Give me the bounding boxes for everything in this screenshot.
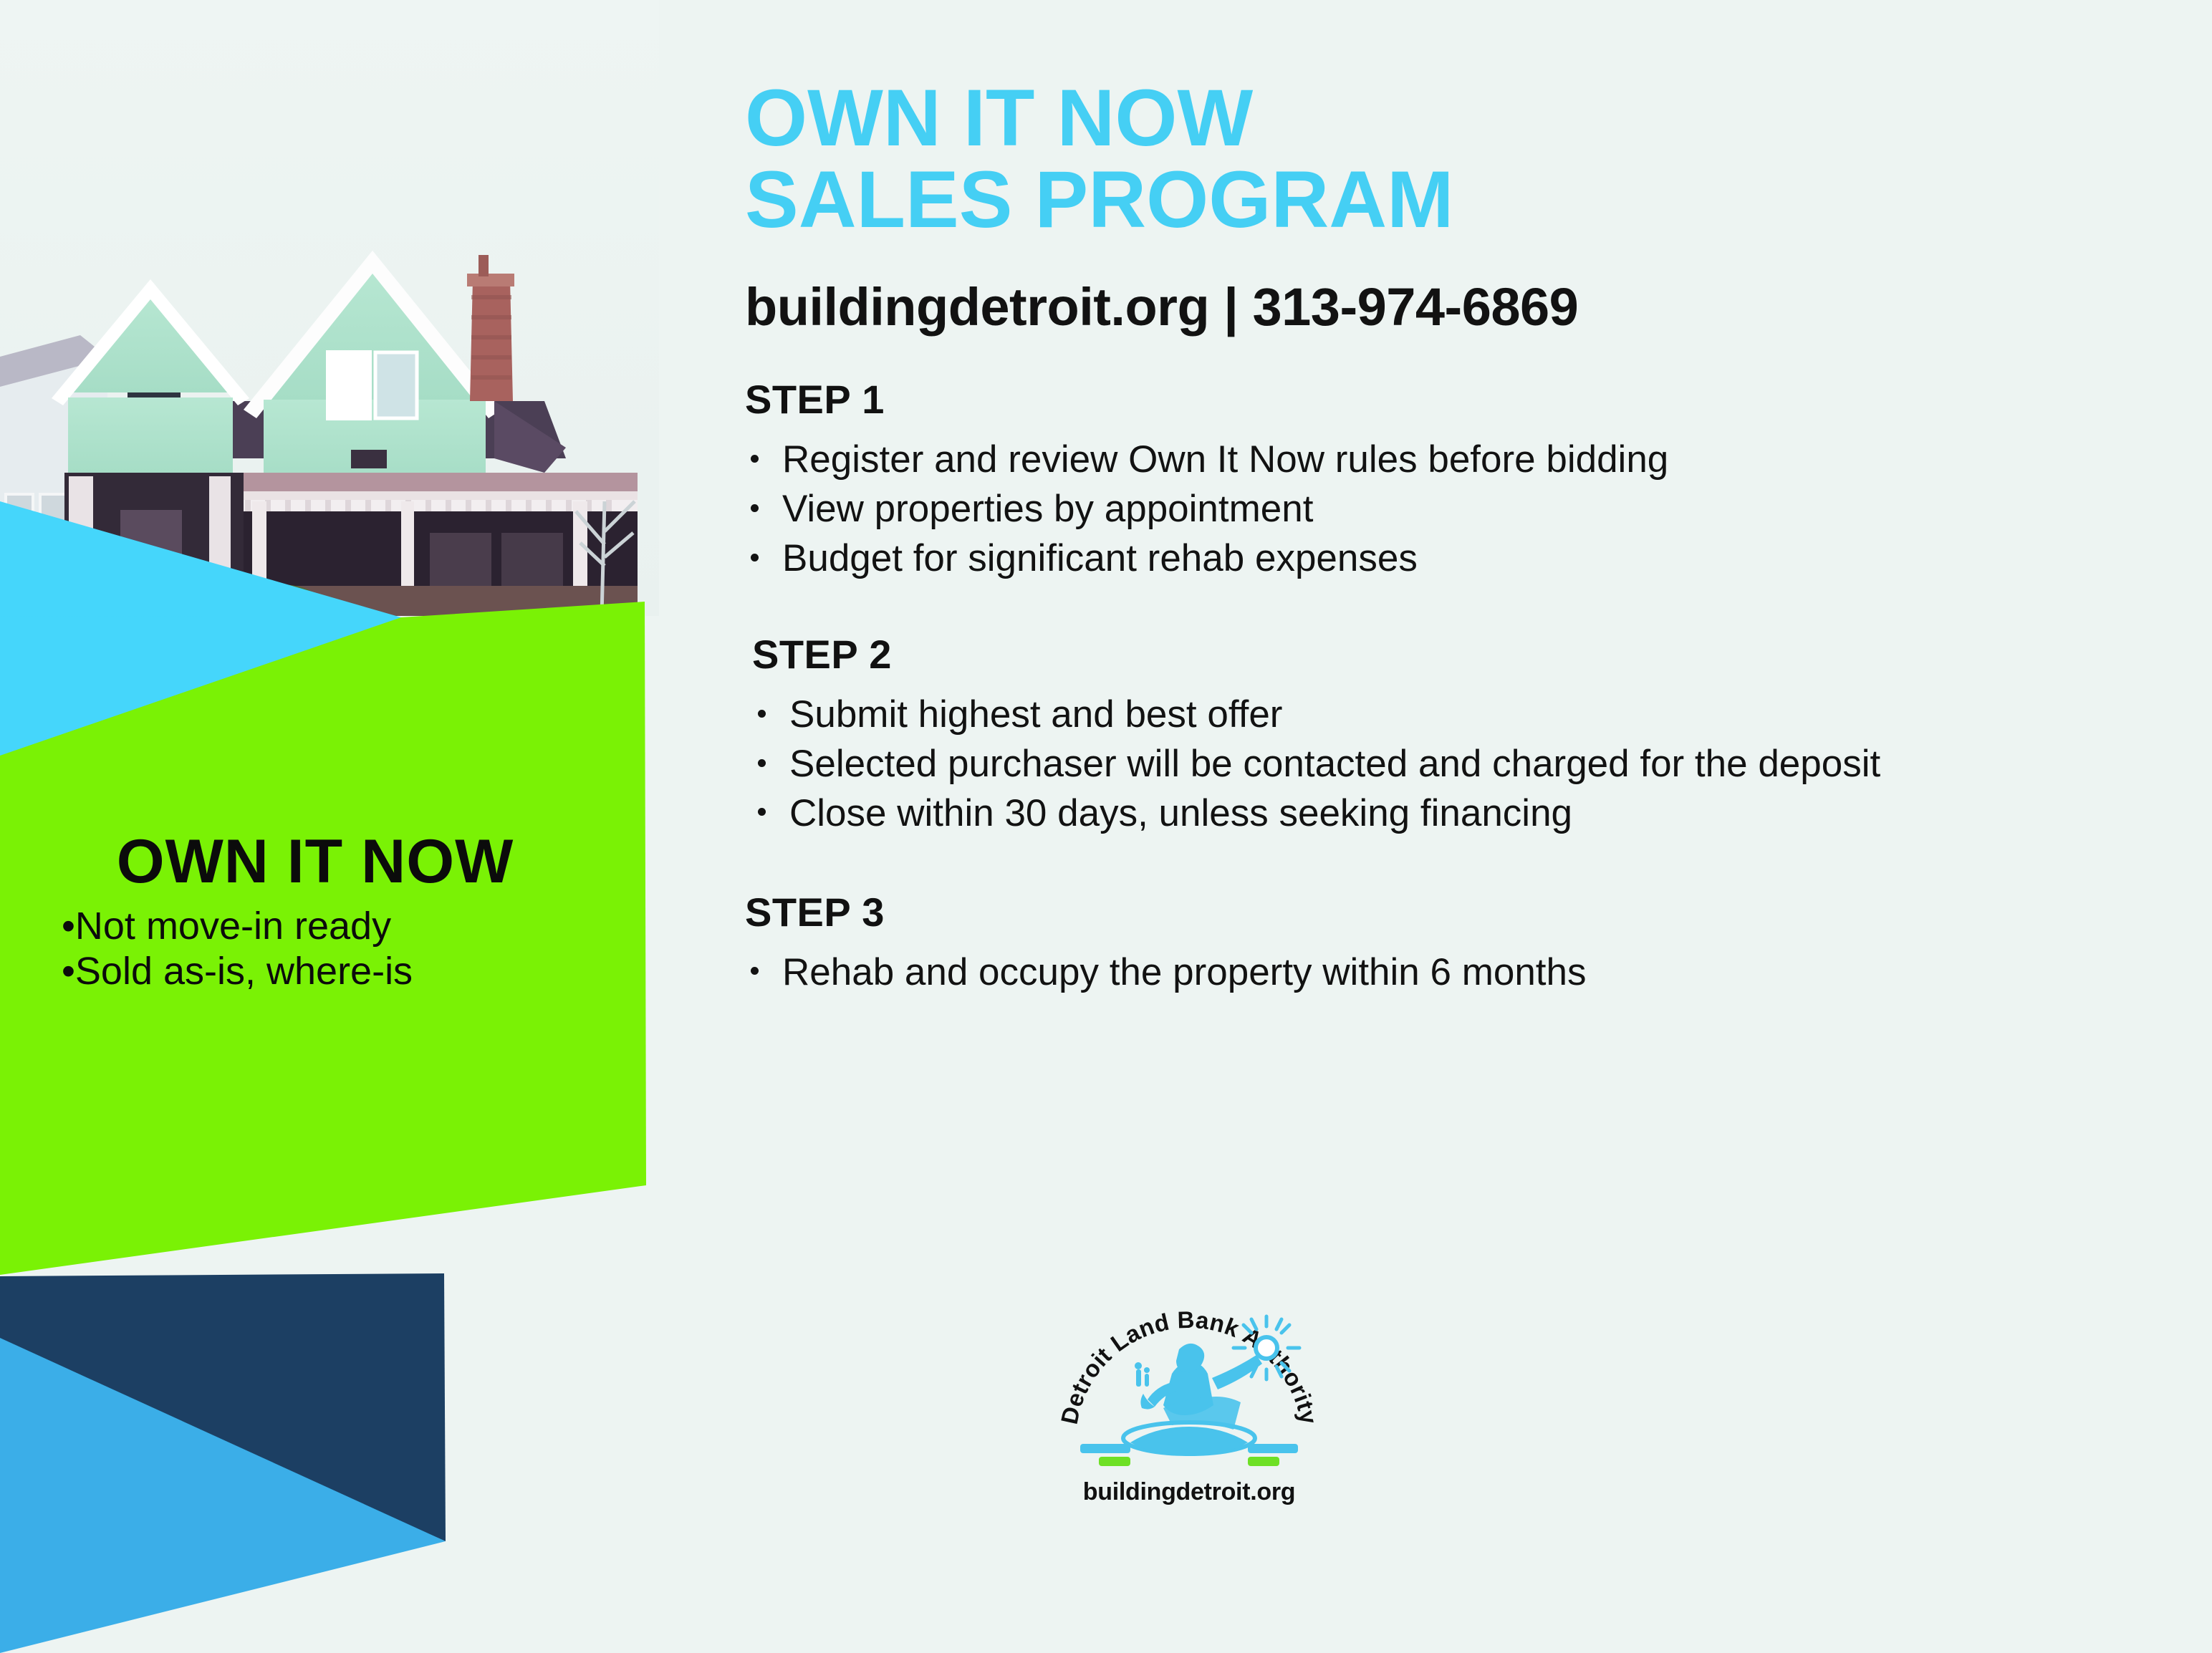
step-2-item: Close within 30 days, unless seeking fin… <box>752 789 2185 839</box>
logo-dash-left <box>1080 1444 1130 1466</box>
step-2-item-text: Close within 30 days, unless seeking fin… <box>789 792 1572 834</box>
step-2-heading: STEP 2 <box>752 631 2185 678</box>
bullet-dot-icon <box>751 554 759 562</box>
step-1-list: Register and review Own It Now rules bef… <box>745 435 2185 584</box>
panel-bullet-item: •Sold as-is, where-is <box>62 949 630 994</box>
step-2-list: Submit highest and best offer Selected p… <box>752 690 2185 839</box>
panel-bullet-item: •Not move-in ready <box>62 904 630 949</box>
step-1-item: Budget for significant rehab expenses <box>745 534 2185 584</box>
flyer-canvas: OWN IT NOW •Not move-in ready •Sold as-i… <box>0 0 2212 1653</box>
step-2-item-text: Submit highest and best offer <box>789 693 1282 736</box>
step-2-item: Selected purchaser will be contacted and… <box>752 740 2185 789</box>
panel-bullet-list: •Not move-in ready •Sold as-is, where-is <box>0 904 630 993</box>
step-1-heading: STEP 1 <box>745 376 2185 423</box>
step-block-1: STEP 1 Register and review Own It Now ru… <box>745 376 2185 584</box>
headline-line-2: SALES PROGRAM <box>745 159 2185 241</box>
step-1-item-text: View properties by appointment <box>782 488 1313 530</box>
contact-line[interactable]: buildingdetroit.org | 313-974-6869 <box>745 276 2185 337</box>
bullet-dot-icon <box>758 759 766 767</box>
step-1-item: Register and review Own It Now rules bef… <box>745 435 2185 485</box>
green-panel-text: OWN IT NOW •Not move-in ready •Sold as-i… <box>0 831 630 993</box>
bullet-dot-icon <box>751 504 759 512</box>
page-title: OWN IT NOW SALES PROGRAM <box>745 0 2185 241</box>
logo-dash-right <box>1248 1444 1298 1466</box>
logo-url-text[interactable]: buildingdetroit.org <box>1046 1478 1332 1506</box>
bullet-dot-icon <box>751 455 759 463</box>
bullet-dot-icon <box>751 967 759 975</box>
main-content: OWN IT NOW SALES PROGRAM buildingdetroit… <box>745 0 2185 1653</box>
step-3-item-text: Rehab and occupy the property within 6 m… <box>782 951 1587 993</box>
detroit-land-bank-logo[interactable]: Detroit Land Bank Authority <box>1046 1289 1332 1504</box>
step-2-item-text: Selected purchaser will be contacted and… <box>789 743 1880 785</box>
step-3-list: Rehab and occupy the property within 6 m… <box>745 948 2185 998</box>
step-2-item: Submit highest and best offer <box>752 690 2185 740</box>
headline-line-1: OWN IT NOW <box>745 73 1253 163</box>
step-1-item-text: Budget for significant rehab expenses <box>782 537 1418 579</box>
geometric-shapes <box>0 0 688 1653</box>
step-3-item: Rehab and occupy the property within 6 m… <box>745 948 2185 998</box>
step-1-item: View properties by appointment <box>745 485 2185 534</box>
panel-title: OWN IT NOW <box>0 831 630 892</box>
bullet-dot-icon <box>758 808 766 816</box>
step-block-3: STEP 3 Rehab and occupy the property wit… <box>745 889 2185 998</box>
step-1-item-text: Register and review Own It Now rules bef… <box>782 438 1668 481</box>
logo-mark: Detroit Land Bank Authority <box>1046 1289 1332 1477</box>
left-artwork: OWN IT NOW •Not move-in ready •Sold as-i… <box>0 0 688 1653</box>
bullet-dot-icon <box>758 710 766 718</box>
step-3-heading: STEP 3 <box>745 889 2185 935</box>
step-block-2: STEP 2 Submit highest and best offer Sel… <box>745 631 2185 839</box>
